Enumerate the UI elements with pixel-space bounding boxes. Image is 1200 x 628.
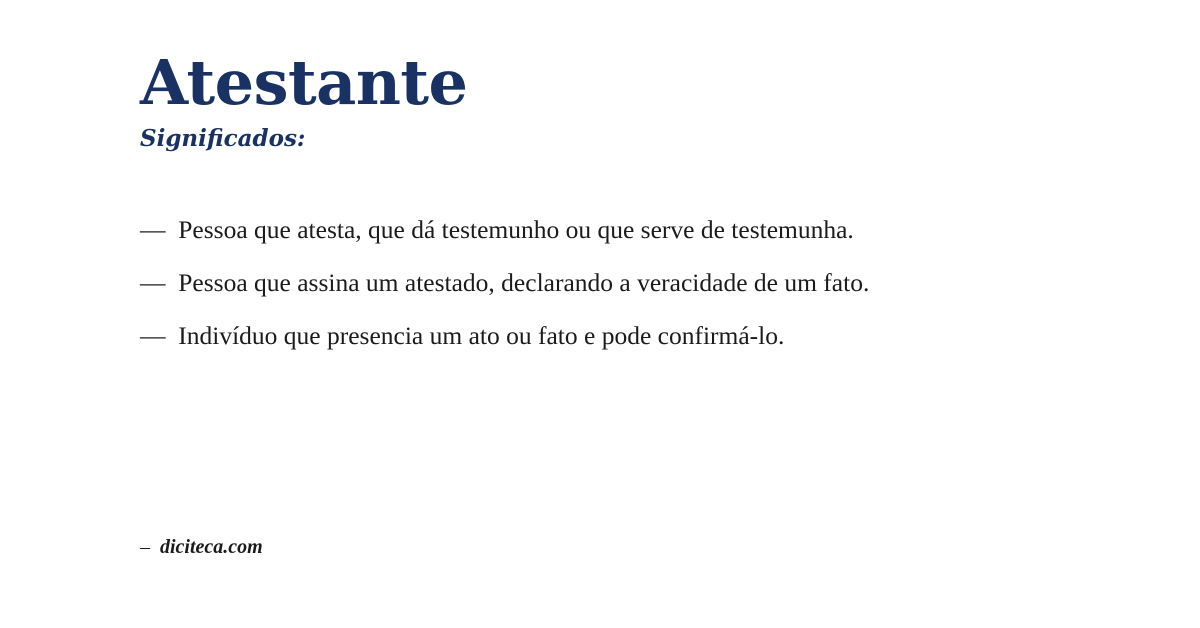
definition-text: Pessoa que assina um atestado, declarand… — [178, 268, 869, 297]
em-dash-marker: — — [140, 321, 178, 350]
em-dash-marker: — — [140, 215, 178, 244]
source-name: diciteca.com — [160, 536, 263, 558]
definitions-list: — Pessoa que atesta, que dá testemunho o… — [140, 212, 1055, 353]
dictionary-entry-card: Atestante Significados: — Pessoa que ate… — [0, 0, 1200, 628]
definition-item: — Indivíduo que presencia um ato ou fato… — [140, 318, 1055, 353]
meanings-label: Significados: — [140, 126, 1080, 151]
definition-item: — Pessoa que assina um atestado, declara… — [140, 265, 1055, 300]
page-title: Atestante — [140, 52, 1080, 114]
definition-item: — Pessoa que atesta, que dá testemunho o… — [140, 212, 1055, 247]
definition-text: Indivíduo que presencia um ato ou fato e… — [178, 321, 784, 350]
definition-text: Pessoa que atesta, que dá testemunho ou … — [178, 215, 854, 244]
em-dash-marker: — — [140, 268, 178, 297]
source-attribution: – diciteca.com — [140, 534, 263, 560]
dash-marker: – — [140, 536, 160, 558]
entry-header: Atestante Significados: — [140, 52, 1080, 151]
